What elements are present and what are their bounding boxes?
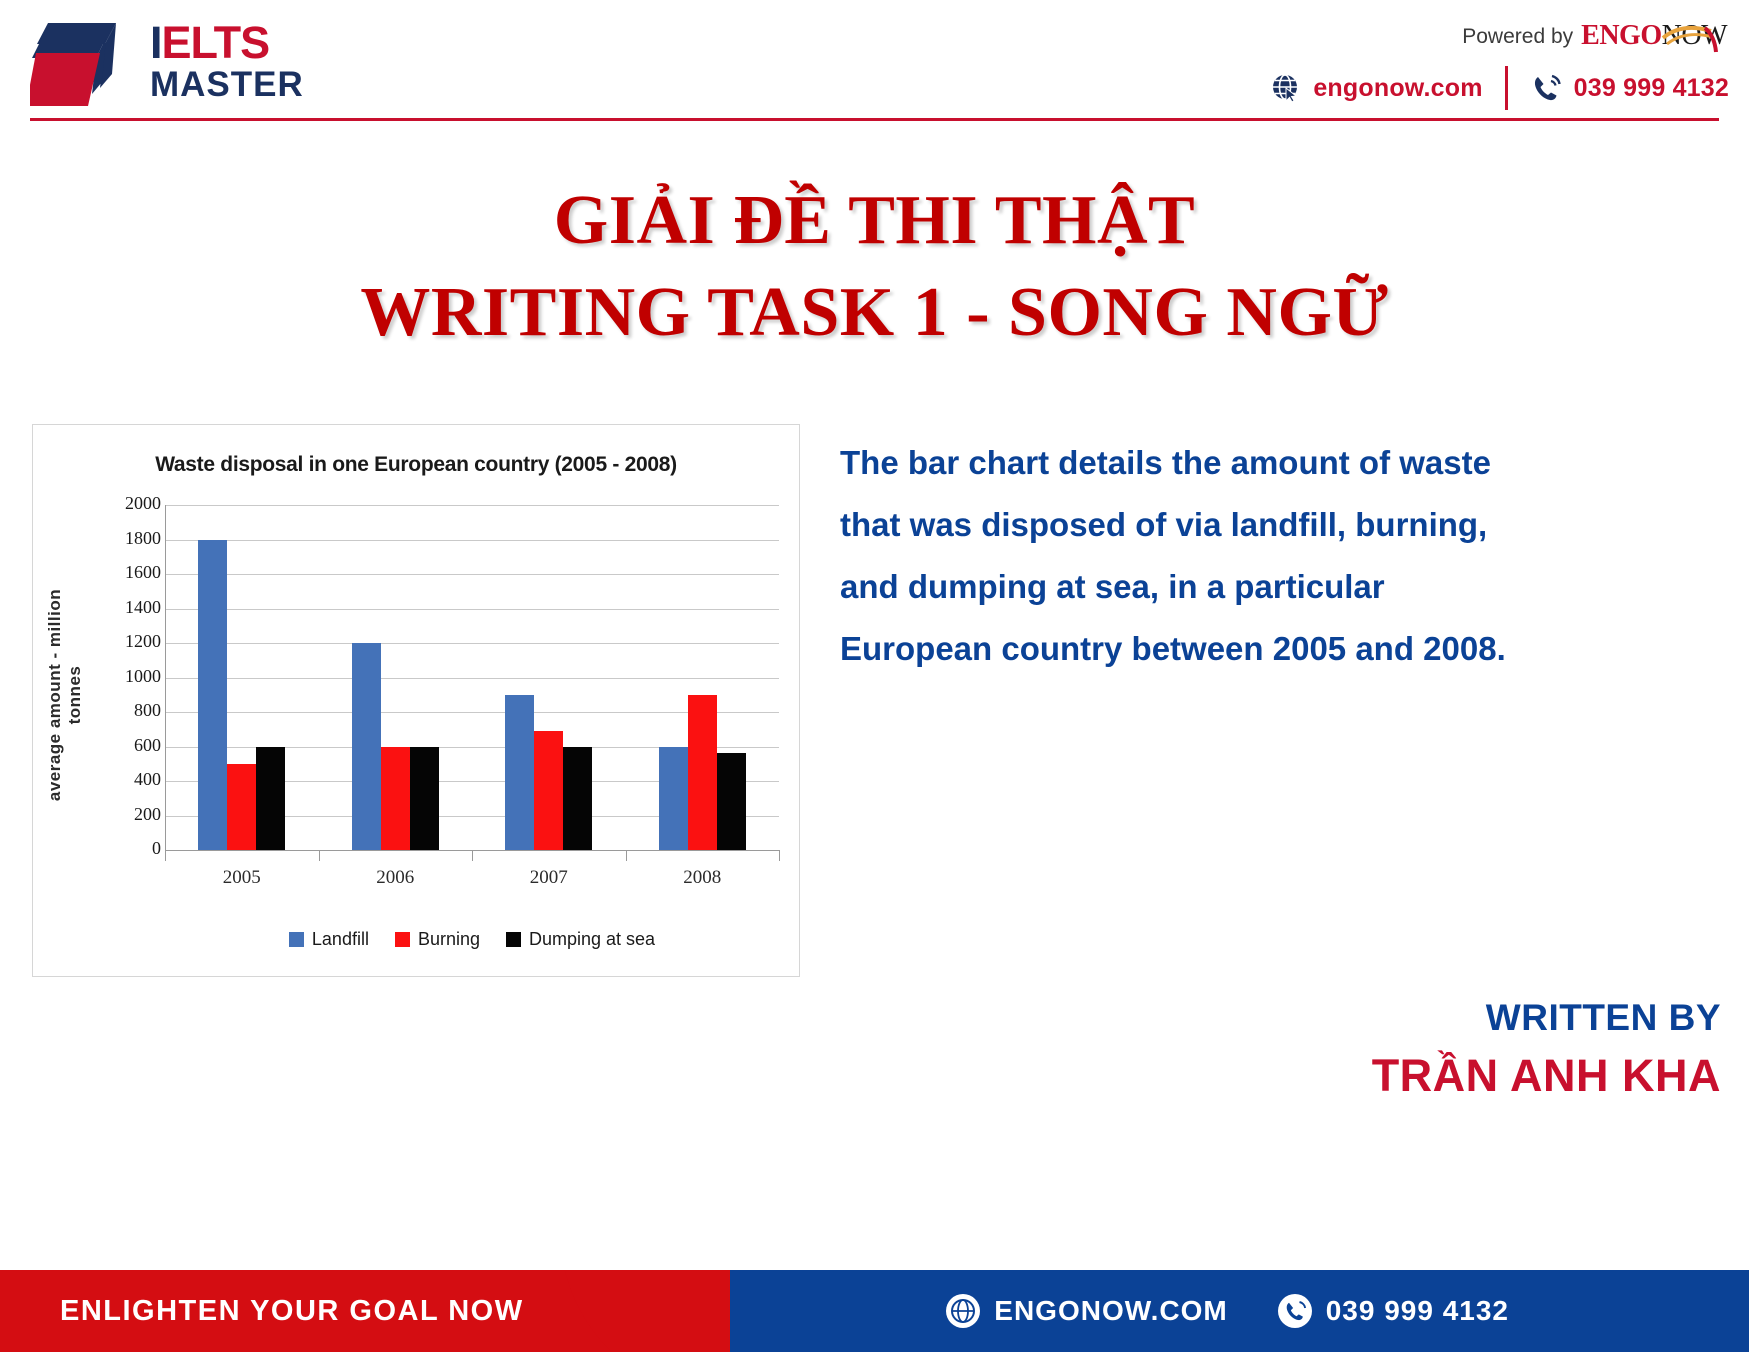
chart-plot-inner: 2000180016001400120010008006004002000 xyxy=(165,505,779,850)
legend-swatch xyxy=(395,932,410,947)
page-footer: ENLIGHTEN YOUR GOAL NOW ENGONOW.COM 039 … xyxy=(0,1270,1749,1352)
ielts-master-logo[interactable]: IELTS MASTER xyxy=(30,12,330,112)
logo-pages-icon xyxy=(30,16,140,112)
x-tick-label: 2008 xyxy=(626,867,780,889)
engonow-bold-part: ENGO xyxy=(1581,20,1661,51)
chart-title: Waste disposal in one European country (… xyxy=(33,453,799,477)
footer-website-item[interactable]: ENGONOW.COM xyxy=(946,1294,1227,1328)
globe-icon xyxy=(946,1294,980,1328)
bar-group xyxy=(165,505,319,850)
bar-landfill-2008 xyxy=(659,747,688,851)
chart-x-ticks: 2005200620072008 xyxy=(165,867,779,889)
legend-item-burning: Burning xyxy=(395,929,480,950)
y-tick-label: 2000 xyxy=(91,493,161,514)
footer-contact-row: ENGONOW.COM 039 999 4132 xyxy=(946,1270,1509,1352)
legend-label: Burning xyxy=(418,929,480,950)
y-tick-label: 0 xyxy=(91,838,161,859)
bar-dumping-at-sea-2006 xyxy=(410,747,439,851)
y-tick-label: 1800 xyxy=(91,528,161,549)
y-tick-label: 1400 xyxy=(91,597,161,618)
x-separator xyxy=(165,850,166,861)
logo-brand-secondary: MASTER xyxy=(150,66,304,104)
phone-contact[interactable]: 039 999 4132 xyxy=(1530,72,1729,104)
y-tick-label: 800 xyxy=(91,700,161,721)
phone-text: 039 999 4132 xyxy=(1574,74,1729,103)
bar-group xyxy=(626,505,780,850)
header-contact-row: engonow.com 039 999 4132 xyxy=(1271,66,1729,110)
legend-swatch xyxy=(289,932,304,947)
logo-initial: I xyxy=(150,17,162,68)
footer-slogan: ENLIGHTEN YOUR GOAL NOW xyxy=(60,1270,524,1352)
bar-burning-2005 xyxy=(227,764,256,850)
globe-cursor-icon xyxy=(1271,73,1301,103)
footer-phone-text: 039 999 4132 xyxy=(1326,1295,1509,1327)
legend-label: Dumping at sea xyxy=(529,929,655,950)
bar-group xyxy=(472,505,626,850)
bar-landfill-2007 xyxy=(505,695,534,850)
y-tick-label: 600 xyxy=(91,735,161,756)
bar-dumping-at-sea-2005 xyxy=(256,747,285,851)
bar-burning-2006 xyxy=(381,747,410,851)
title-line-2: WRITING TASK 1 - SONG NGỮ xyxy=(0,267,1749,359)
chart-bar-groups xyxy=(165,505,779,850)
y-tick-label: 1200 xyxy=(91,631,161,652)
bar-burning-2008 xyxy=(688,695,717,850)
page-title: GIẢI ĐỀ THI THẬT WRITING TASK 1 - SONG N… xyxy=(0,175,1749,359)
footer-phone-item[interactable]: 039 999 4132 xyxy=(1278,1294,1509,1328)
header-divider xyxy=(1505,66,1508,110)
x-separator xyxy=(779,850,780,861)
powered-by-label: Powered by xyxy=(1462,24,1573,50)
legend-item-dumping-at-sea: Dumping at sea xyxy=(506,929,655,950)
author-block: WRITTEN BY TRẦN ANH KHA xyxy=(1021,990,1721,1106)
y-tick-label: 200 xyxy=(91,804,161,825)
author-name: TRẦN ANH KHA xyxy=(1021,1046,1721,1106)
task-description: The bar chart details the amount of wast… xyxy=(840,432,1530,680)
x-separator xyxy=(472,850,473,861)
header-rule xyxy=(30,118,1719,121)
bar-dumping-at-sea-2007 xyxy=(563,747,592,851)
phone-icon xyxy=(1278,1294,1312,1328)
bar-group xyxy=(319,505,473,850)
bar-landfill-2006 xyxy=(352,643,381,850)
engonow-swoosh-icon xyxy=(1661,24,1721,54)
chart-plot-area: 2000180016001400120010008006004002000 20… xyxy=(165,505,779,1283)
footer-website-text: ENGONOW.COM xyxy=(994,1295,1227,1327)
phone-icon xyxy=(1530,72,1562,104)
x-tick-label: 2007 xyxy=(472,867,626,889)
y-tick-label: 400 xyxy=(91,769,161,790)
website-contact[interactable]: engonow.com xyxy=(1271,73,1482,103)
chart-legend: LandfillBurningDumping at sea xyxy=(165,929,779,950)
written-by-label: WRITTEN BY xyxy=(1021,990,1721,1046)
legend-swatch xyxy=(506,932,521,947)
y-tick-label: 1000 xyxy=(91,666,161,687)
website-text: engonow.com xyxy=(1313,74,1482,103)
y-tick-label: 1600 xyxy=(91,562,161,583)
x-separator xyxy=(319,850,320,861)
logo-brand-primary: ELTS xyxy=(162,17,270,68)
x-separator xyxy=(626,850,627,861)
page-header: IELTS MASTER Powered by ENGONOW engonow.… xyxy=(0,0,1749,122)
bar-dumping-at-sea-2008 xyxy=(717,753,746,850)
logo-wordmark: IELTS MASTER xyxy=(150,20,304,104)
chart-y-axis-label: average amount - million tonnes xyxy=(45,565,85,825)
legend-label: Landfill xyxy=(312,929,369,950)
chart-card: Waste disposal in one European country (… xyxy=(32,424,800,977)
powered-by-block: Powered by ENGONOW xyxy=(1462,22,1727,50)
x-tick-label: 2006 xyxy=(319,867,473,889)
legend-item-landfill: Landfill xyxy=(289,929,369,950)
bar-burning-2007 xyxy=(534,731,563,850)
x-tick-label: 2005 xyxy=(165,867,319,889)
bar-landfill-2005 xyxy=(198,540,227,851)
title-line-1: GIẢI ĐỀ THI THẬT xyxy=(0,175,1749,267)
